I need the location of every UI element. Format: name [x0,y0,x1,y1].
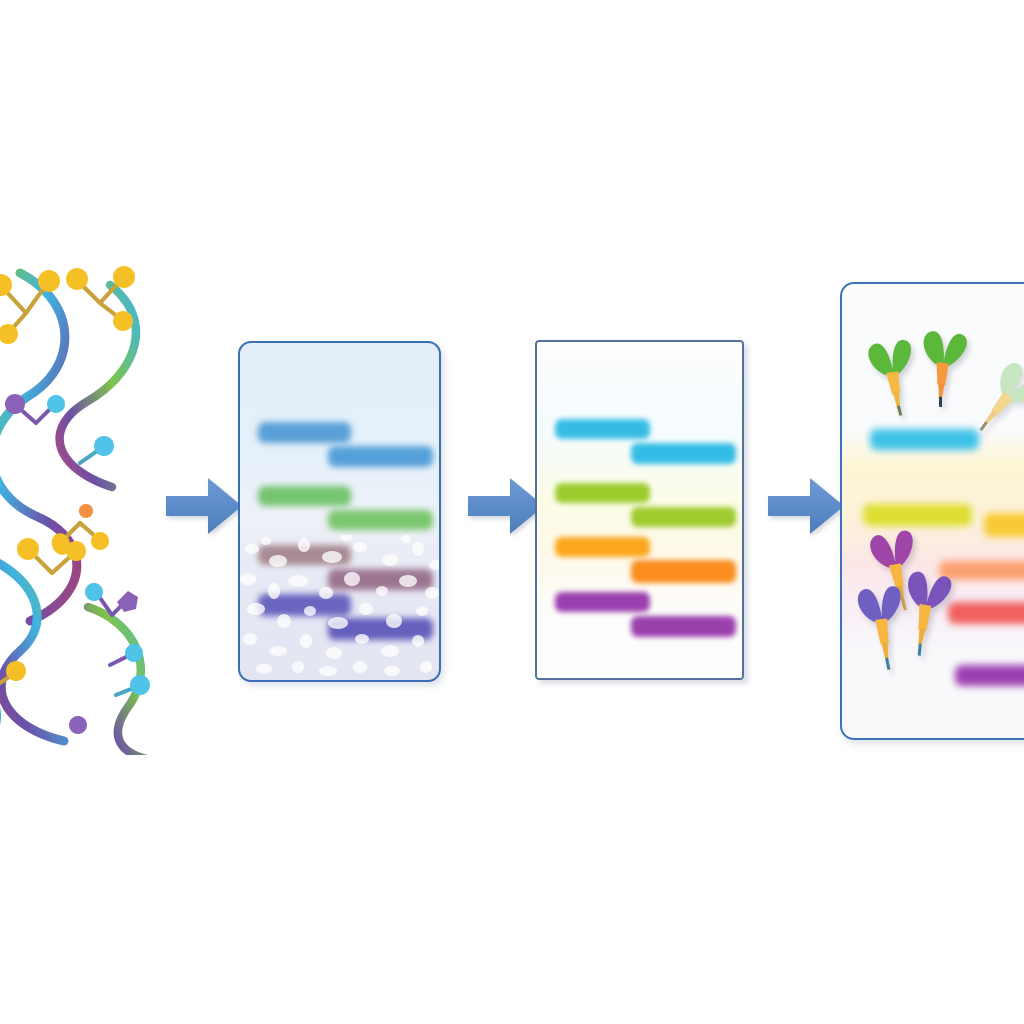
gel-band-lane1-green [258,486,352,506]
arrow-3-icon [768,474,846,538]
arrow-1-icon [166,474,244,538]
membrane-panel [535,340,744,680]
membrane-band-lane2-lime [631,507,736,528]
diagram-canvas [0,0,1024,1024]
immunodetection-panel [840,282,1024,740]
gel-band-lane1-blue [258,422,352,443]
membrane-band-lane1-purple [555,592,649,612]
membrane-band-lane2-cyan [631,443,736,464]
detect-band-lane2-purple [955,665,1024,686]
membrane-band-lane2-purple [631,616,736,638]
antibody-green-2-icon [915,329,971,409]
membrane-band-lane2-orange [631,560,736,582]
gel-speckle-texture [240,535,439,680]
antibody-violet-2-icon [896,570,954,658]
membrane-band-lane1-cyan [555,419,649,439]
gel-band-lane2-green [328,510,433,530]
antibody-green-1-icon [866,338,922,418]
detect-band-lane1-yellow [863,504,972,526]
antibody-green-3-icon [977,361,1024,441]
detect-band-lane1-cyan [870,429,979,450]
detect-band-lane2-red [948,602,1024,624]
detect-band-lane2-gold [984,513,1024,537]
sds-page-gel-panel [238,341,441,682]
gel-band-lane2-blue [328,446,433,468]
membrane-band-lane1-orange [555,537,649,557]
membrane-band-lane1-lime [555,483,649,503]
